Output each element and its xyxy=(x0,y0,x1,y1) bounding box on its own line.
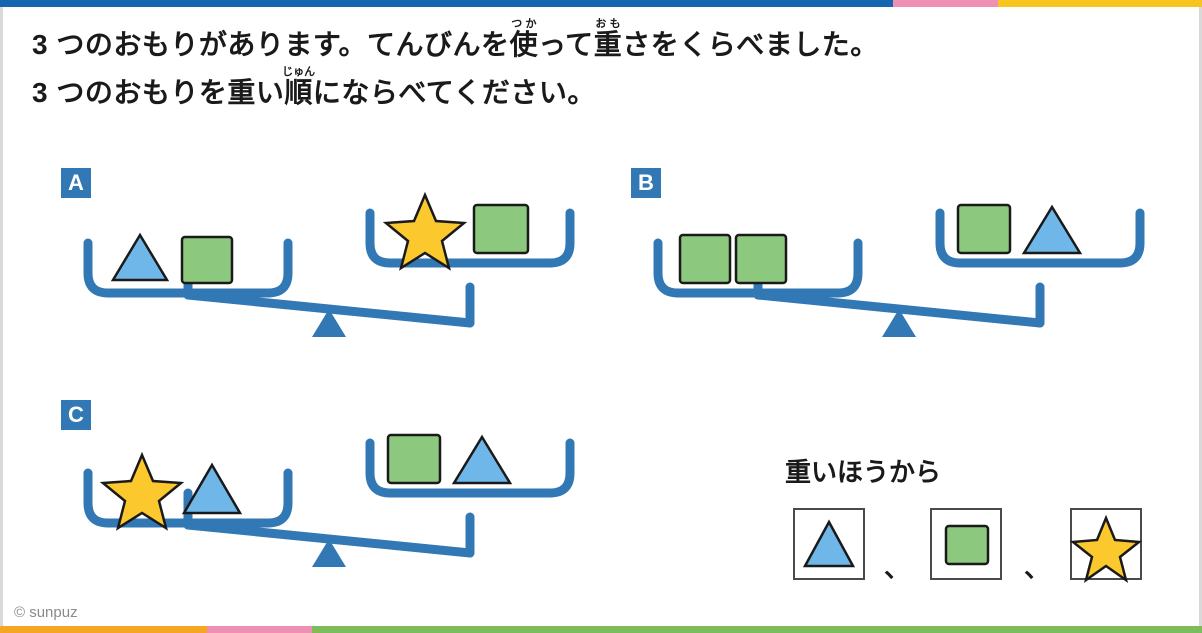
weight-square xyxy=(474,205,528,253)
balance-b xyxy=(640,195,1170,355)
balance-label-b: B xyxy=(631,168,661,198)
answer-separator-2: 、 xyxy=(1024,548,1050,585)
answer-cell-3[interactable] xyxy=(1070,508,1142,580)
balance-c xyxy=(70,425,600,585)
question-line-2: 3 つのおもりを重い順じゅんにならべてください。 xyxy=(32,66,1162,114)
answer-separator-1: 、 xyxy=(884,548,910,585)
balance-a xyxy=(70,195,600,355)
weight-square xyxy=(736,235,786,283)
balance-label-a: A xyxy=(61,168,91,198)
answer-cell-2[interactable] xyxy=(930,508,1002,580)
weight-square xyxy=(958,205,1010,253)
weight-square xyxy=(182,237,232,283)
weight-square xyxy=(946,526,988,564)
question-text: 3 つのおもりがあります。てんびんを使つかって重おもさをくらべました。 3 つの… xyxy=(32,18,1162,115)
weight-triangle xyxy=(805,522,853,566)
weight-star xyxy=(386,195,464,268)
decorative-bottom-bar xyxy=(0,626,1202,633)
copyright-text: © sunpuz xyxy=(14,604,78,621)
weight-triangle xyxy=(1024,207,1080,253)
weight-square xyxy=(388,435,440,483)
weight-star xyxy=(103,455,181,528)
weight-triangle xyxy=(454,437,510,483)
decorative-top-bar xyxy=(0,0,1202,7)
pan-a-right xyxy=(370,213,570,263)
weight-star xyxy=(1073,518,1139,580)
weight-triangle xyxy=(184,465,240,513)
answer-title: 重いほうから xyxy=(785,452,941,489)
answer-cell-1[interactable] xyxy=(793,508,865,580)
weight-triangle xyxy=(113,235,167,280)
weight-square xyxy=(680,235,730,283)
question-line-1: 3 つのおもりがあります。てんびんを使つかって重おもさをくらべました。 xyxy=(32,18,1162,66)
